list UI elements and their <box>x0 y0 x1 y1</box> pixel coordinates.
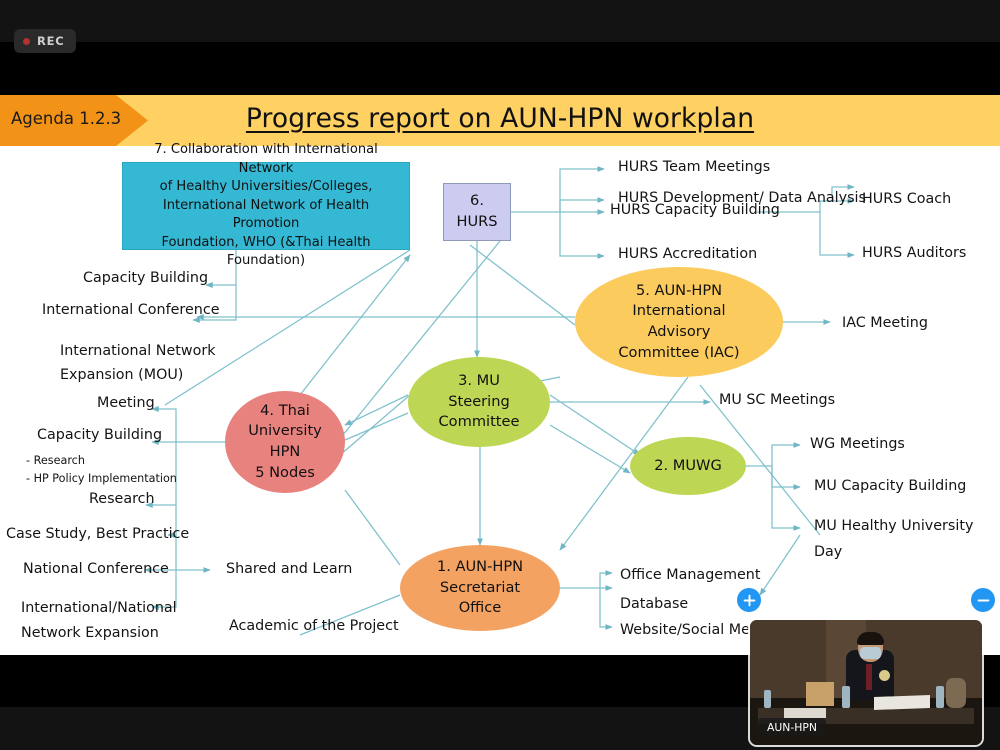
node-mu-steering-committee[interactable]: 3. MU Steering Committee <box>408 357 550 447</box>
minus-icon <box>977 594 990 607</box>
label-meeting: Meeting <box>97 393 155 414</box>
node-collaboration-line: 7. Collaboration with International Netw… <box>129 141 403 178</box>
node-collaboration-line: of Healthy Universities/Colleges, <box>160 178 373 197</box>
node-secretariat-office[interactable]: 1. AUN-HPN Secretariat Office <box>400 545 560 631</box>
node-collaboration[interactable]: 7. Collaboration with International Netw… <box>122 162 410 250</box>
label-research: Research <box>89 489 155 510</box>
record-dot-icon <box>23 38 30 45</box>
label-national-conference: National Conference <box>23 559 169 580</box>
node-collaboration-line: International Network of Health Promotio… <box>129 197 403 234</box>
label-hurs-coach: HURS Coach <box>862 189 951 210</box>
label-mu-capacity-building: MU Capacity Building <box>814 476 966 497</box>
plus-icon <box>743 594 756 607</box>
node-collaboration-line: Foundation, WHO (&Thai Health Foundation… <box>129 234 403 271</box>
node-mu-line: Committee <box>438 412 519 433</box>
label-hurs-capacity-building: HURS Capacity Building <box>610 200 780 221</box>
node-thai-line: HPN <box>270 442 301 463</box>
node-iac[interactable]: 5. AUN-HPN International Advisory Commit… <box>575 267 783 377</box>
node-mu-line: Steering <box>448 392 510 413</box>
video-person-tie <box>866 664 872 690</box>
video-water-bottle <box>936 686 944 708</box>
node-hurs-line: HURS <box>456 212 497 233</box>
node-thai-line: University <box>248 421 322 442</box>
label-mu-sc-meetings: MU SC Meetings <box>719 390 835 411</box>
label-international-conference: International Conference <box>42 300 220 321</box>
node-hurs[interactable]: 6. HURS <box>443 183 511 241</box>
label-network-expansion: Network Expansion <box>21 623 159 644</box>
video-participant-tile[interactable]: AUN-HPN <box>750 620 982 745</box>
label-wg-meetings: WG Meetings <box>810 434 905 455</box>
label-shared-and-learn: Shared and Learn <box>226 559 352 580</box>
node-mu-line: 3. MU <box>458 371 500 392</box>
label-office-management: Office Management <box>620 565 760 586</box>
node-hurs-line: 6. <box>470 191 484 212</box>
label-hp-policy-bullet: - HP Policy Implementation <box>26 471 177 487</box>
label-mu-healthy-university-day: Day <box>814 542 842 563</box>
label-academic-of-the-project: Academic of the Project <box>229 616 399 637</box>
label-database: Database <box>620 594 688 615</box>
label-expansion-mou: Expansion (MOU) <box>60 365 183 386</box>
label-iac-meeting: IAC Meeting <box>842 313 928 334</box>
recording-label: REC <box>37 34 65 48</box>
presentation-slide: Agenda 1.2.3 Progress report on AUN-HPN … <box>0 95 1000 655</box>
video-person-hair <box>857 632 884 645</box>
video-desk-object <box>946 678 966 708</box>
video-document <box>784 708 826 718</box>
zoom-in-button[interactable] <box>737 588 761 612</box>
video-document <box>874 695 930 710</box>
node-sec-line: 1. AUN-HPN <box>437 557 523 578</box>
label-international-network: International Network <box>60 341 216 362</box>
video-person-face-mask <box>860 647 881 659</box>
node-thai-line: 5 Nodes <box>255 463 315 484</box>
label-hurs-auditors: HURS Auditors <box>862 243 966 264</box>
zoom-out-button[interactable] <box>971 588 995 612</box>
node-iac-line: 5. AUN-HPN <box>636 281 722 302</box>
node-iac-line: International <box>632 301 725 322</box>
node-thai-line: 4. Thai <box>260 401 310 422</box>
top-letterbox-upper <box>0 0 1000 42</box>
node-thai-university-hpn[interactable]: 4. Thai University HPN 5 Nodes <box>225 391 345 493</box>
top-letterbox-lower <box>0 42 1000 95</box>
node-muwg[interactable]: 2. MUWG <box>630 437 746 495</box>
label-capacity-building-intl: Capacity Building <box>83 268 208 289</box>
label-intl-national: International/National <box>21 598 177 619</box>
video-paper-bag <box>806 682 834 706</box>
label-mu-healthy-university: MU Healthy University <box>814 516 973 537</box>
label-hurs-team-meetings: HURS Team Meetings <box>618 157 770 178</box>
video-person-badge <box>879 670 890 681</box>
node-sec-line: Office <box>459 598 502 619</box>
recording-indicator[interactable]: REC <box>14 29 76 53</box>
screen-share-view: REC Agenda 1.2.3 Progress report on AUN-… <box>0 0 1000 750</box>
node-iac-line: Committee (IAC) <box>618 343 739 364</box>
label-hurs-accreditation: HURS Accreditation <box>618 244 757 265</box>
label-capacity-building-thai: Capacity Building <box>37 425 162 446</box>
video-water-bottle <box>842 686 850 708</box>
node-muwg-line: 2. MUWG <box>654 456 722 477</box>
video-water-bottle <box>764 690 771 708</box>
node-sec-line: Secretariat <box>440 578 520 599</box>
label-case-study: Case Study, Best Practice <box>6 524 189 545</box>
node-iac-line: Advisory <box>648 322 711 343</box>
label-research-bullet: - Research <box>26 453 85 469</box>
label-website-social-media: Website/Social Media <box>620 620 772 641</box>
participant-name-label: AUN-HPN <box>758 718 826 737</box>
